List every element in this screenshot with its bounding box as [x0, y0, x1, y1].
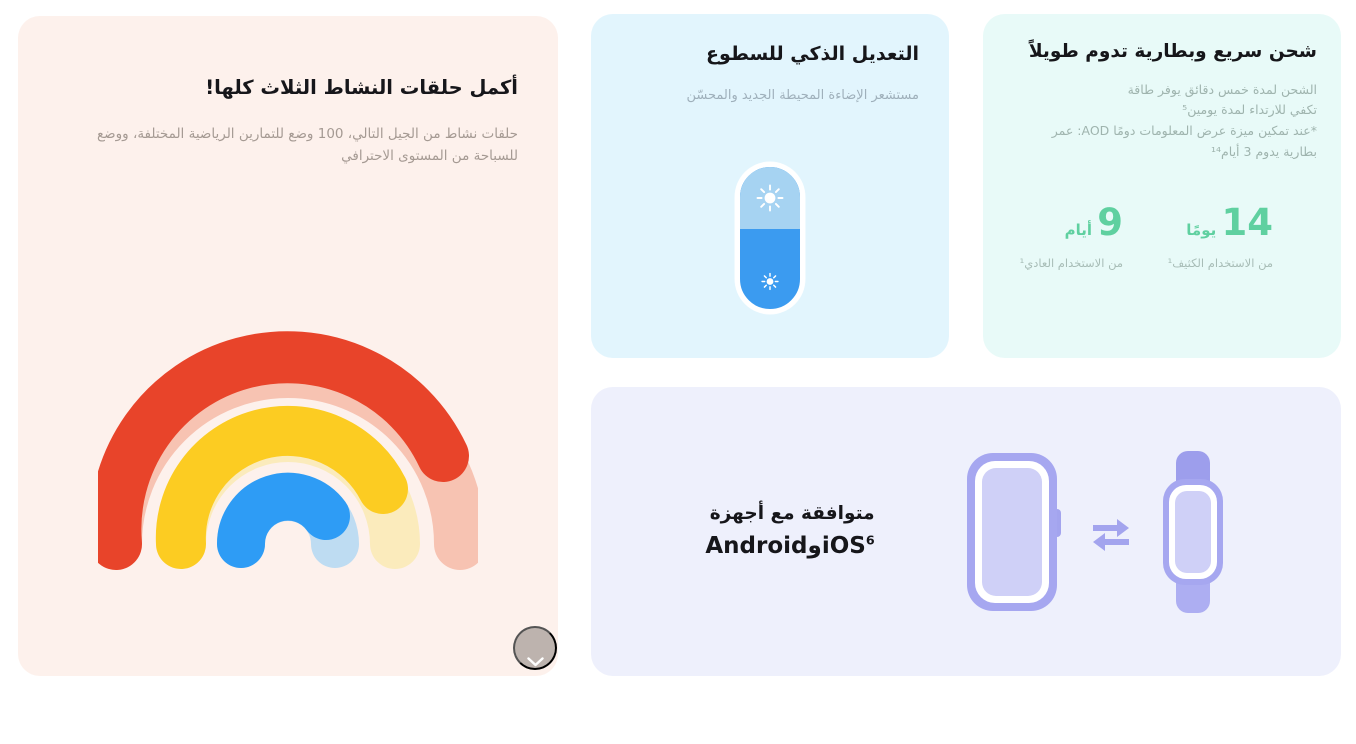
- compat-line-1: متوافقة مع أجهزة: [705, 500, 874, 528]
- card-header: التعديل الذكي للسطوع مستشعر الإضاءة المح…: [591, 14, 949, 106]
- stat-value-group: 9 أيام: [1007, 204, 1123, 241]
- card-activity-rings[interactable]: أكمل حلقات النشاط الثلاث كلها! حلقات نشا…: [18, 16, 558, 676]
- stat-value-group: 14 يومًا: [1157, 204, 1273, 241]
- compat-line-2: AndroidوiOS6: [705, 530, 874, 563]
- stat-heavy-usage: 14 يومًا من الاستخدام الكثيف¹: [1157, 204, 1273, 271]
- compatibility-text: متوافقة مع أجهزة AndroidوiOS6: [705, 500, 874, 563]
- battery-stats: 14 يومًا من الاستخدام الكثيف¹ 9 أيام من …: [1007, 204, 1317, 271]
- phone-icon: [965, 451, 1063, 613]
- card-title: التعديل الذكي للسطوع: [621, 40, 919, 69]
- brightness-slider[interactable]: [735, 162, 805, 314]
- card-header: شحن سريع وبطارية تدوم طويلاً الشحن لمدة …: [983, 14, 1341, 162]
- compat-os-android: Android: [705, 533, 807, 559]
- page-title: أكمل حلقات النشاط الثلاث كلها!: [58, 74, 518, 102]
- expand-button-activity-rings[interactable]: [513, 626, 557, 670]
- stat-caption: من الاستخدام العادي¹: [1007, 255, 1123, 271]
- rings-svg: [98, 244, 478, 574]
- compat-footnote-marker: 6: [866, 532, 875, 547]
- feature-card-grid: أكمل حلقات النشاط الثلاث كلها! حلقات نشا…: [0, 0, 1356, 744]
- compat-conjunction: و: [808, 533, 822, 559]
- stat-value: 9: [1097, 201, 1123, 244]
- card-compatibility[interactable]: متوافقة مع أجهزة AndroidوiOS6: [591, 387, 1341, 676]
- card-subtitle: مستشعر الإضاءة المحيطة الجديد والمحسّن: [621, 85, 919, 106]
- card-subtitle: حلقات نشاط من الجيل التالي، 100 وضع للتم…: [58, 124, 518, 168]
- card-battery[interactable]: شحن سريع وبطارية تدوم طويلاً الشحن لمدة …: [983, 14, 1341, 358]
- chevron-down-icon: [527, 657, 544, 667]
- card-header: أكمل حلقات النشاط الثلاث كلها! حلقات نشا…: [18, 16, 558, 168]
- activity-rings-graphic: [18, 244, 558, 574]
- stat-unit: يومًا: [1186, 221, 1216, 239]
- compat-os-ios: iOS: [822, 533, 866, 559]
- card-subtitle: الشحن لمدة خمس دقائق يوفر طاقة تكفي للار…: [1007, 80, 1317, 163]
- stat-caption: من الاستخدام الكثيف¹: [1157, 255, 1273, 271]
- stat-normal-usage: 9 أيام من الاستخدام العادي¹: [1007, 204, 1123, 271]
- stat-value: 14: [1222, 201, 1274, 244]
- card-title: شحن سريع وبطارية تدوم طويلاً: [1007, 38, 1317, 66]
- subtitle-line-1: الشحن لمدة خمس دقائق يوفر طاقة: [1128, 82, 1317, 97]
- stat-unit: أيام: [1065, 221, 1092, 239]
- brightness-slider-graphic: [591, 162, 949, 314]
- subtitle-line-4: بطارية يدوم 3 أيام¹⁴: [1211, 144, 1317, 159]
- sun-icon: [755, 183, 785, 217]
- watch-phone-sync-graphic: [965, 451, 1227, 613]
- sync-arrows-icon: [1089, 512, 1133, 552]
- sun-icon-small: [761, 272, 780, 295]
- subtitle-line-3: *عند تمكين ميزة عرض المعلومات دومًا AOD:…: [1052, 123, 1317, 138]
- subtitle-line-2: تكفي للارتداء لمدة يومين⁵: [1182, 102, 1317, 117]
- card-smart-brightness[interactable]: التعديل الذكي للسطوع مستشعر الإضاءة المح…: [591, 14, 949, 358]
- watch-icon: [1159, 451, 1227, 613]
